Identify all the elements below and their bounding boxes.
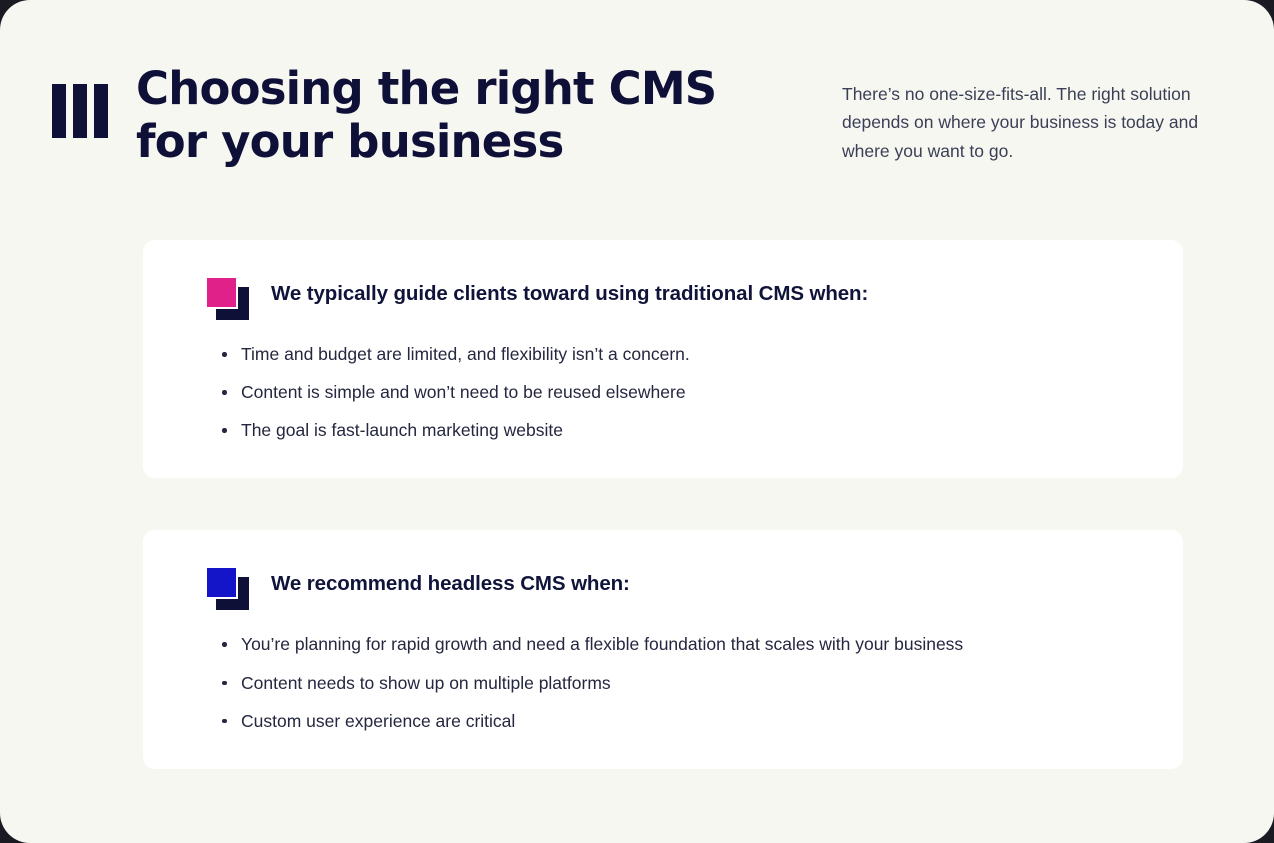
page-title: Choosing the right CMS for your business (136, 62, 716, 168)
list-item: Custom user experience are critical (241, 709, 1143, 733)
stacked-squares-icon-blue (205, 566, 249, 610)
header: Choosing the right CMS for your business… (52, 62, 1222, 168)
card-title: We recommend headless CMS when: (271, 564, 630, 598)
list-item: The goal is fast-launch marketing websit… (241, 418, 1143, 442)
slide-surface: Choosing the right CMS for your business… (0, 0, 1274, 843)
stacked-squares-icon-magenta (205, 276, 249, 320)
header-note: There’s no one-size-fits-all. The right … (842, 80, 1222, 165)
square-front (205, 566, 238, 599)
three-bars-logo-icon (52, 84, 108, 138)
header-left: Choosing the right CMS for your business (52, 62, 716, 168)
logo-bar-2 (73, 84, 87, 138)
card-bullet-list: Time and budget are limited, and flexibi… (205, 342, 1143, 442)
card-headless-cms: We recommend headless CMS when: You’re p… (143, 530, 1183, 768)
card-title: We typically guide clients toward using … (271, 274, 868, 308)
logo-bar-1 (52, 84, 66, 138)
card-header: We recommend headless CMS when: (205, 564, 1143, 610)
card-traditional-cms: We typically guide clients toward using … (143, 240, 1183, 478)
list-item: Content needs to show up on multiple pla… (241, 671, 1143, 695)
square-front (205, 276, 238, 309)
list-item: You’re planning for rapid growth and nee… (241, 632, 1143, 656)
cards-container: We typically guide clients toward using … (143, 240, 1183, 769)
card-header: We typically guide clients toward using … (205, 274, 1143, 320)
list-item: Content is simple and won’t need to be r… (241, 380, 1143, 404)
list-item: Time and budget are limited, and flexibi… (241, 342, 1143, 366)
logo-bar-3 (94, 84, 108, 138)
card-bullet-list: You’re planning for rapid growth and nee… (205, 632, 1143, 732)
